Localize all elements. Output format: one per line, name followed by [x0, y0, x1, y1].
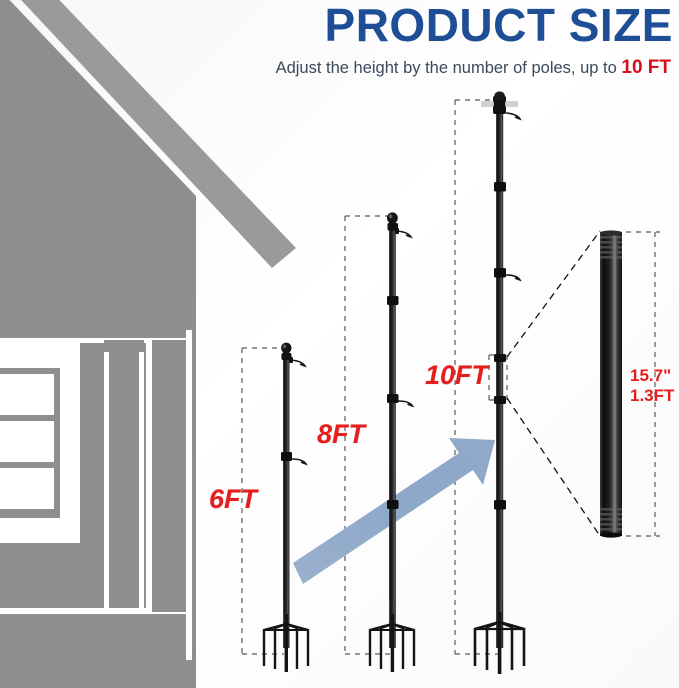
segment-dimension-label: 15.7" 1.3FT [630, 366, 674, 405]
pole-8ft-joint-3 [387, 500, 399, 509]
pole-8ft [370, 212, 414, 672]
pole-10ft-joint-2 [494, 268, 506, 278]
pole-10ft-wing-right [505, 101, 518, 107]
page-subtitle: Adjust the height by the number of poles… [276, 58, 671, 77]
header: PRODUCT SIZE Adjust the height by the nu… [0, 0, 679, 92]
pole-6ft-hook-mid-icon [292, 459, 306, 464]
pole-segment-detail [600, 230, 622, 537]
product-size-infographic: PRODUCT SIZE Adjust the height by the nu… [0, 0, 679, 688]
pole-10ft-hook-top-icon [506, 113, 520, 119]
poles-diagram [0, 0, 679, 688]
segment-shaft [600, 232, 622, 536]
segment-dimension-feet: 1.3FT [630, 386, 674, 406]
subtitle-prefix: Adjust the height by the number of poles… [276, 59, 622, 77]
pole-10ft-ground-stake-icon [475, 612, 524, 674]
pole-10ft-joint-1 [494, 182, 506, 192]
pole-8ft-joint-2 [387, 394, 399, 403]
pole-8ft-hook-top-icon [397, 231, 411, 237]
pole-8ft-ground-stake-icon [370, 614, 414, 672]
pole-10ft-wing-left [481, 101, 494, 107]
pole-6ft [264, 343, 308, 672]
page-title: PRODUCT SIZE [325, 2, 673, 48]
segment-cap-bottom [600, 532, 622, 537]
pole-10ft-finial-icon [494, 91, 505, 100]
callout-line-upper [507, 231, 600, 357]
pole-8ft-hook-mid-icon [399, 401, 413, 406]
pole-8ft-finial-icon [387, 212, 398, 223]
pole-6ft-finial-icon [281, 343, 291, 354]
segment-cap-top [600, 230, 622, 235]
callout-connector-lines [507, 231, 600, 536]
label-10ft: 10FT [425, 362, 488, 389]
pole-10ft-joint-5 [494, 500, 506, 510]
pole-10ft-joint-4 [494, 396, 506, 404]
pole-8ft-joint-1 [387, 296, 399, 305]
subtitle-highlight: 10 FT [621, 57, 671, 78]
pole-6ft-hook-top-icon [291, 360, 305, 366]
segment-highlight [613, 234, 616, 534]
pole-6ft-joint [281, 452, 292, 461]
pole-6ft-ground-stake-icon [264, 614, 308, 672]
label-8ft: 8FT [317, 421, 365, 448]
callout-line-lower [507, 398, 600, 536]
pole-8ft-shaft [389, 222, 396, 648]
pole-10ft-hook-mid-icon [506, 275, 520, 280]
pole-10ft-joint-3 [494, 354, 506, 362]
label-6ft: 6FT [209, 486, 257, 513]
segment-dimension-inches: 15.7" [630, 366, 674, 386]
